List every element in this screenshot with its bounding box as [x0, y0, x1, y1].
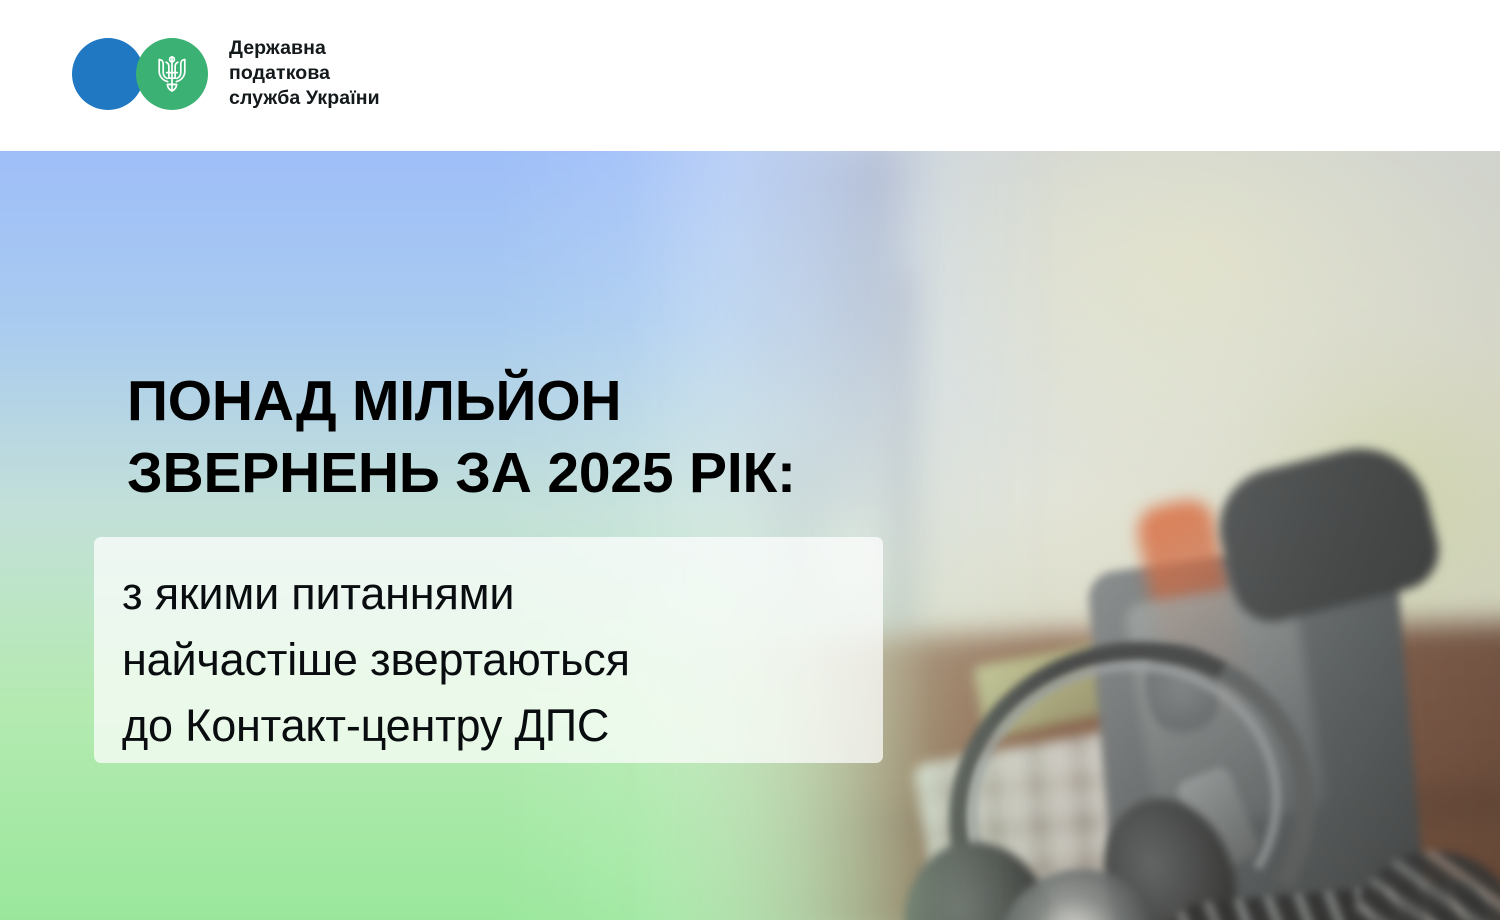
blue-green-gradient-overlay [0, 151, 1500, 920]
hero-stage: ПОНАД МІЛЬЙОН ЗВЕРНЕНЬ ЗА 2025 РІК: з як… [0, 151, 1500, 920]
blue-circle-icon [72, 38, 144, 110]
logo-marks [72, 38, 208, 110]
brand-logo[interactable]: Державна податкова служба України [72, 36, 380, 111]
page-title: ПОНАД МІЛЬЙОН ЗВЕРНЕНЬ ЗА 2025 РІК: [127, 365, 967, 509]
subtitle-panel: з якими питаннями найчастіше звертаються… [94, 537, 883, 763]
banner-root: ПОНАД МІЛЬЙОН ЗВЕРНЕНЬ ЗА 2025 РІК: з як… [0, 0, 1500, 920]
brand-logo-text: Державна податкова служба України [229, 36, 380, 111]
header-band: Державна податкова служба України [0, 0, 1500, 151]
page-subtitle: з якими питаннями найчастіше звертаються… [122, 561, 882, 759]
ukraine-trident-icon [155, 51, 189, 97]
green-circle-icon [136, 38, 208, 110]
